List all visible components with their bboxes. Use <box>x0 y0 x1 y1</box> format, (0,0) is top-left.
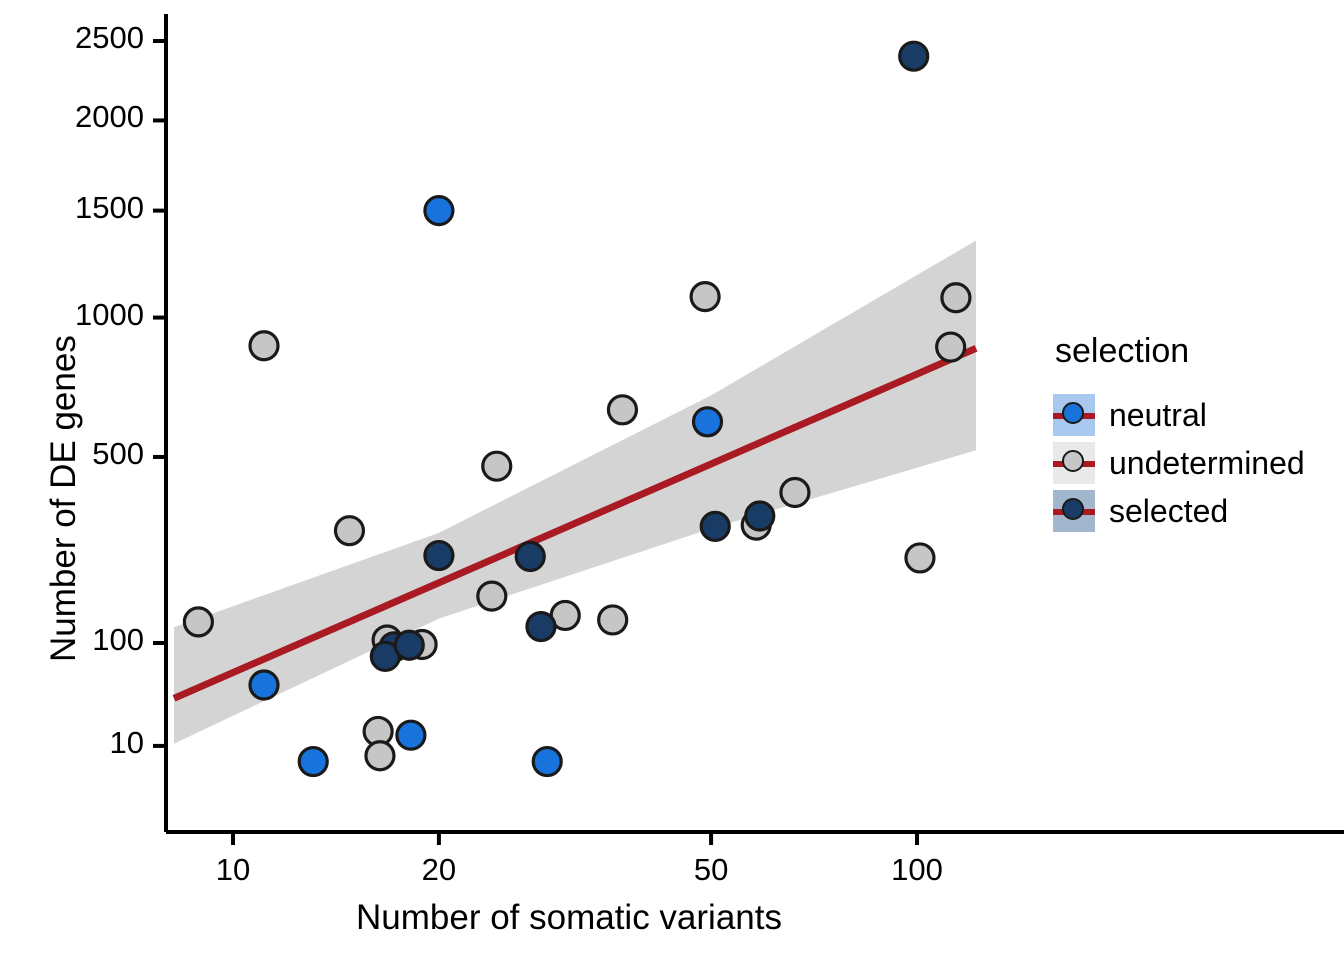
data-point-undetermined <box>608 396 636 424</box>
data-point-selected <box>516 542 544 570</box>
y-tick-label: 500 <box>92 436 144 472</box>
x-tick-label: 100 <box>857 852 977 888</box>
data-point-undetermined <box>906 544 934 572</box>
data-point-undetermined <box>691 283 719 311</box>
data-point-selected <box>395 631 423 659</box>
y-tick-label: 10 <box>110 725 144 761</box>
data-point-neutral <box>694 408 722 436</box>
legend-item-label: selected <box>1109 493 1228 530</box>
confidence-ribbon <box>174 241 976 744</box>
legend-item-selected[interactable]: selected <box>1053 490 1228 532</box>
y-tick-label: 100 <box>92 622 144 658</box>
legend-key-swatch <box>1053 442 1095 484</box>
x-tick-label: 10 <box>173 852 293 888</box>
legend-item-neutral[interactable]: neutral <box>1053 394 1207 436</box>
data-point-undetermined <box>937 333 965 361</box>
data-point-undetermined <box>335 517 363 545</box>
data-point-neutral <box>397 721 425 749</box>
data-point-undetermined <box>483 452 511 480</box>
legend-item-label: neutral <box>1109 397 1207 434</box>
data-point-selected <box>425 542 453 570</box>
legend-key-swatch <box>1053 490 1095 532</box>
legend-key-point-icon <box>1062 450 1084 472</box>
legend-key-point-icon <box>1062 498 1084 520</box>
data-point-undetermined <box>250 332 278 360</box>
data-point-neutral <box>425 197 453 225</box>
legend-key-point-icon <box>1062 402 1084 424</box>
regression-line <box>174 348 976 698</box>
data-point-undetermined <box>781 479 809 507</box>
y-tick-label: 2500 <box>75 20 144 56</box>
scatter-plot-figure: Number of DE genes Number of somatic var… <box>0 0 1344 960</box>
data-point-selected <box>701 512 729 540</box>
legend-title: selection <box>1055 332 1189 371</box>
data-point-selected <box>746 502 774 530</box>
legend-key-swatch <box>1053 394 1095 436</box>
x-tick-label: 50 <box>651 852 771 888</box>
legend-item-undetermined[interactable]: undetermined <box>1053 442 1305 484</box>
data-point-neutral <box>250 671 278 699</box>
data-point-selected <box>527 613 555 641</box>
data-point-undetermined <box>942 284 970 312</box>
data-point-undetermined <box>478 582 506 610</box>
data-point-neutral <box>533 748 561 776</box>
y-tick-label: 2000 <box>75 99 144 135</box>
y-tick-label: 1000 <box>75 297 144 333</box>
data-point-undetermined <box>184 608 212 636</box>
data-point-selected <box>900 42 928 70</box>
y-tick-label: 1500 <box>75 190 144 226</box>
data-point-neutral <box>299 748 327 776</box>
x-tick-label: 20 <box>379 852 499 888</box>
legend-item-label: undetermined <box>1109 445 1305 482</box>
data-point-undetermined <box>599 606 627 634</box>
data-point-undetermined <box>366 742 394 770</box>
